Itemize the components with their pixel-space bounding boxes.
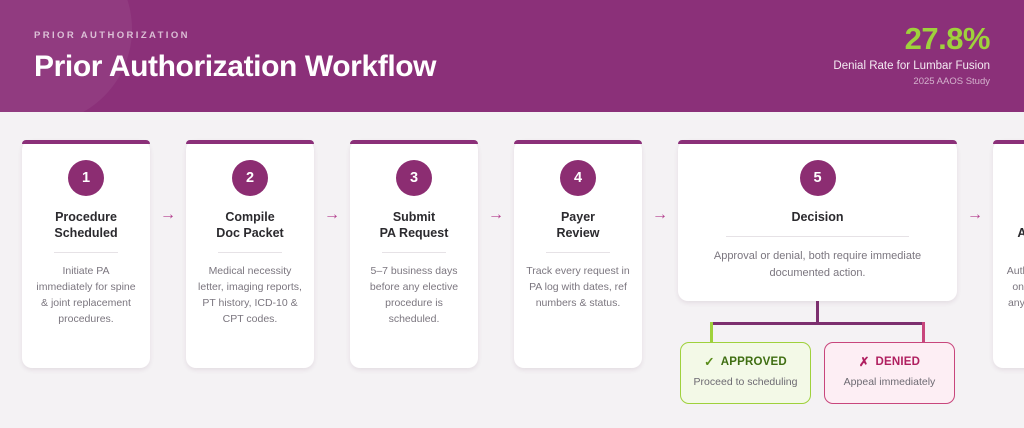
step-title-line1: Procedure xyxy=(55,210,117,224)
cross-icon: ✗ xyxy=(859,354,870,369)
step-card-1: 1 Procedure Scheduled Initiate PA immedi… xyxy=(22,140,150,368)
header-stat-block: 27.8% Denial Rate for Lumbar Fusion 2025… xyxy=(833,23,990,90)
step-card-2: 2 Compile Doc Packet Medical necessity l… xyxy=(186,140,314,368)
outcome-card-denied: ✗ DENIED Appeal immediately xyxy=(824,342,955,403)
outcome-approved-desc: Proceed to scheduling xyxy=(689,375,802,390)
step-badge-4: 4 xyxy=(560,160,596,196)
step-badge-2: 2 xyxy=(232,160,268,196)
step-badge-1: 1 xyxy=(68,160,104,196)
outcome-denied-header: ✗ DENIED xyxy=(833,354,946,369)
step-title-line1: Payer xyxy=(561,210,595,224)
arrow-icon-5: → xyxy=(957,140,993,223)
outcome-denied-desc: Appeal immediately xyxy=(833,375,946,390)
step-desc-5: Approval or denial, both require immedia… xyxy=(690,248,945,281)
step-desc-4: Track every request in PA log with dates… xyxy=(526,264,630,312)
step-badge-3: 3 xyxy=(396,160,432,196)
step-divider xyxy=(726,236,910,237)
stat-source: 2025 AAOS Study xyxy=(833,76,990,87)
step-title-4: Payer Review xyxy=(556,209,599,241)
step-divider xyxy=(546,252,610,253)
step-title-2: Compile Doc Packet xyxy=(216,209,283,241)
outcome-denied-label: DENIED xyxy=(876,356,921,368)
check-icon: ✓ xyxy=(704,354,715,369)
connector-drop-approved xyxy=(710,322,713,344)
step-title-line1: Submit xyxy=(393,210,435,224)
connector-drop-denied xyxy=(922,322,925,344)
header-eyebrow: PRIOR AUTHORIZATION xyxy=(34,30,436,41)
connector-horizontal-bar xyxy=(711,322,924,325)
step-divider xyxy=(218,252,282,253)
branch-connectors: ✓ APPROVED Proceed to scheduling ✗ DENIE… xyxy=(678,301,957,428)
outcome-approved-label: APPROVED xyxy=(721,356,787,368)
outcome-group: ✓ APPROVED Proceed to scheduling ✗ DENIE… xyxy=(678,342,957,403)
step-title-line2: Doc Packet xyxy=(216,226,283,240)
step-desc-6: Auth number must be on the claim before … xyxy=(1005,264,1024,328)
step-divider xyxy=(54,252,118,253)
step-card-5: 5 Decision Approval or denial, both requ… xyxy=(678,140,957,301)
outcome-card-approved: ✓ APPROVED Proceed to scheduling xyxy=(680,342,811,403)
arrow-icon-2: → xyxy=(314,140,350,223)
step-title-line1: Compile xyxy=(225,210,274,224)
page-title: Prior Authorization Workflow xyxy=(34,50,436,83)
step-desc-3: 5–7 business days before any elective pr… xyxy=(362,264,466,328)
arrow-icon-3: → xyxy=(478,140,514,223)
step-title-line2: Auth Number xyxy=(1017,226,1024,240)
decision-branch-group: 5 Decision Approval or denial, both requ… xyxy=(678,140,957,428)
step-card-3: 3 Submit PA Request 5–7 business days be… xyxy=(350,140,478,368)
page-header: PRIOR AUTHORIZATION Prior Authorization … xyxy=(0,0,1024,112)
step-title-5: Decision xyxy=(791,209,843,225)
step-card-4: 4 Payer Review Track every request in PA… xyxy=(514,140,642,368)
step-title-line2: PA Request xyxy=(380,226,449,240)
step-badge-5: 5 xyxy=(800,160,836,196)
stat-value: 27.8% xyxy=(833,23,990,56)
step-card-6: 6 Document Auth Number Auth number must … xyxy=(993,140,1024,368)
step-title-6: Document Auth Number xyxy=(1017,209,1024,241)
outcome-approved-header: ✓ APPROVED xyxy=(689,354,802,369)
arrow-icon-4: → xyxy=(642,140,678,223)
step-title-1: Procedure Scheduled xyxy=(54,209,117,241)
step-divider xyxy=(382,252,446,253)
step-desc-1: Initiate PA immediately for spine & join… xyxy=(34,264,138,328)
stat-label: Denial Rate for Lumbar Fusion xyxy=(833,60,990,72)
arrow-icon-1: → xyxy=(150,140,186,223)
workflow-diagram: 1 Procedure Scheduled Initiate PA immedi… xyxy=(0,112,1024,428)
step-title-line2: Review xyxy=(556,226,599,240)
step-title-3: Submit PA Request xyxy=(380,209,449,241)
step-desc-2: Medical necessity letter, imaging report… xyxy=(198,264,302,328)
connector-vertical-stem xyxy=(816,301,819,323)
header-left-group: PRIOR AUTHORIZATION Prior Authorization … xyxy=(34,30,436,83)
step-title-line2: Scheduled xyxy=(54,226,117,240)
